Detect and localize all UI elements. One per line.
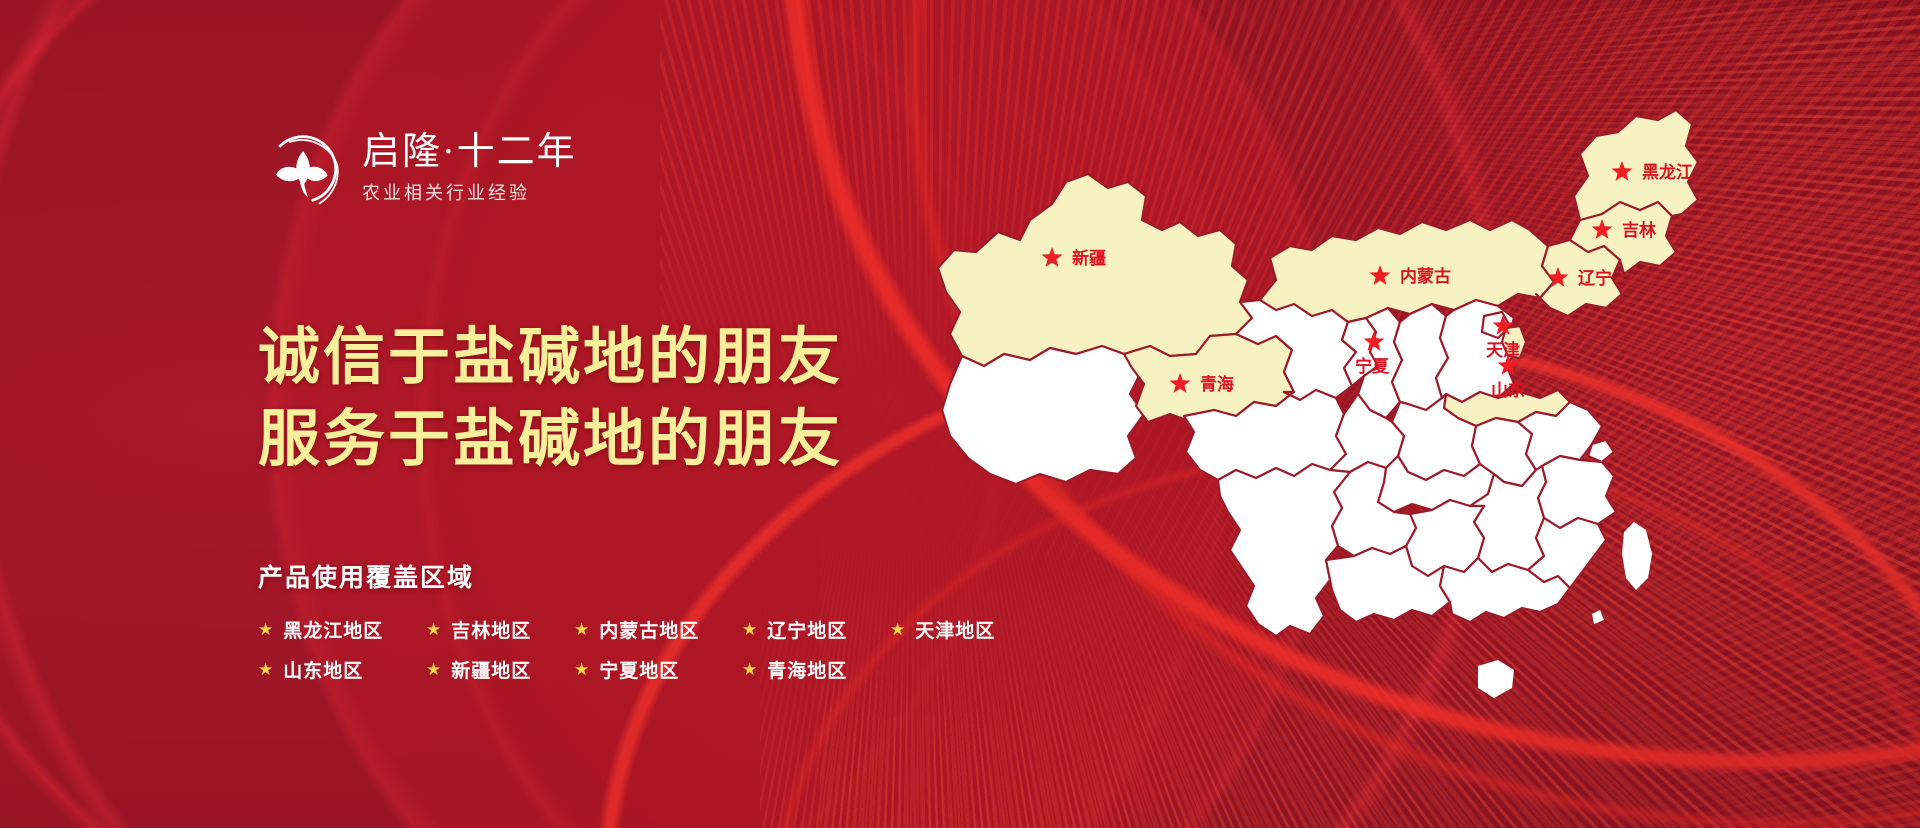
- coverage-region-item[interactable]: ★辽宁地区: [742, 616, 890, 643]
- map-marker-label: 黑龙江: [1642, 162, 1693, 182]
- coverage-region-item[interactable]: ★宁夏地区: [574, 656, 742, 683]
- coverage-region-item[interactable]: ★黑龙江地区: [258, 616, 426, 643]
- star-icon: ★: [742, 661, 758, 678]
- map-marker-label: 青海: [1200, 374, 1234, 394]
- content-column: 启隆·十二年 农业相关行业经验 诚信于盐碱地的朋友 服务于盐碱地的朋友 产品使用…: [0, 0, 900, 828]
- map-marker-label: 吉林: [1622, 220, 1656, 240]
- coverage-region-item[interactable]: ★青海地区: [742, 656, 847, 683]
- star-icon: ★: [574, 661, 590, 678]
- map-marker-label: 辽宁: [1578, 268, 1612, 288]
- star-icon: ★: [258, 621, 274, 638]
- brand-title: 启隆·十二年: [362, 131, 577, 174]
- star-icon: ★: [742, 621, 758, 638]
- star-icon: ★: [426, 621, 442, 638]
- promo-banner: 启隆·十二年 农业相关行业经验 诚信于盐碱地的朋友 服务于盐碱地的朋友 产品使用…: [0, 0, 1920, 828]
- coverage-region-item[interactable]: ★吉林地区: [426, 616, 574, 643]
- map-marker-label: 新疆: [1072, 248, 1106, 268]
- map-marker-label: 天津: [1486, 340, 1520, 360]
- headline-line-2: 服务于盐碱地的朋友: [258, 400, 843, 482]
- headline-block: 诚信于盐碱地的朋友 服务于盐碱地的朋友: [258, 318, 843, 482]
- coverage-region-item[interactable]: ★山东地区: [258, 656, 426, 683]
- coverage-region-item[interactable]: ★内蒙古地区: [574, 616, 742, 643]
- coverage-region-label: 内蒙古地区: [599, 616, 699, 643]
- map-marker-label: 山东: [1491, 380, 1525, 400]
- star-icon: ★: [258, 661, 274, 678]
- china-coverage-map: 黑龙江吉林辽宁天津山东内蒙古宁夏新疆青海: [880, 54, 1840, 794]
- coverage-region-label: 宁夏地区: [599, 656, 679, 683]
- leaf-flower-crescent-logo-icon: [262, 128, 344, 210]
- coverage-region-label: 辽宁地区: [767, 616, 847, 643]
- coverage-region-label: 吉林地区: [451, 616, 531, 643]
- coverage-region-label: 黑龙江地区: [283, 616, 383, 643]
- coverage-region-label: 青海地区: [767, 656, 847, 683]
- map-marker-label: 宁夏: [1355, 356, 1390, 376]
- brand-subtitle: 农业相关行业经验: [362, 180, 577, 207]
- brand-block: 启隆·十二年 农业相关行业经验: [262, 128, 577, 210]
- coverage-region-label: 山东地区: [283, 656, 363, 683]
- map-marker-label: 内蒙古: [1400, 266, 1451, 286]
- headline-line-1: 诚信于盐碱地的朋友: [258, 318, 843, 400]
- star-icon: ★: [426, 661, 442, 678]
- coverage-region-item[interactable]: ★新疆地区: [426, 656, 574, 683]
- coverage-region-label: 新疆地区: [451, 656, 531, 683]
- star-icon: ★: [574, 621, 590, 638]
